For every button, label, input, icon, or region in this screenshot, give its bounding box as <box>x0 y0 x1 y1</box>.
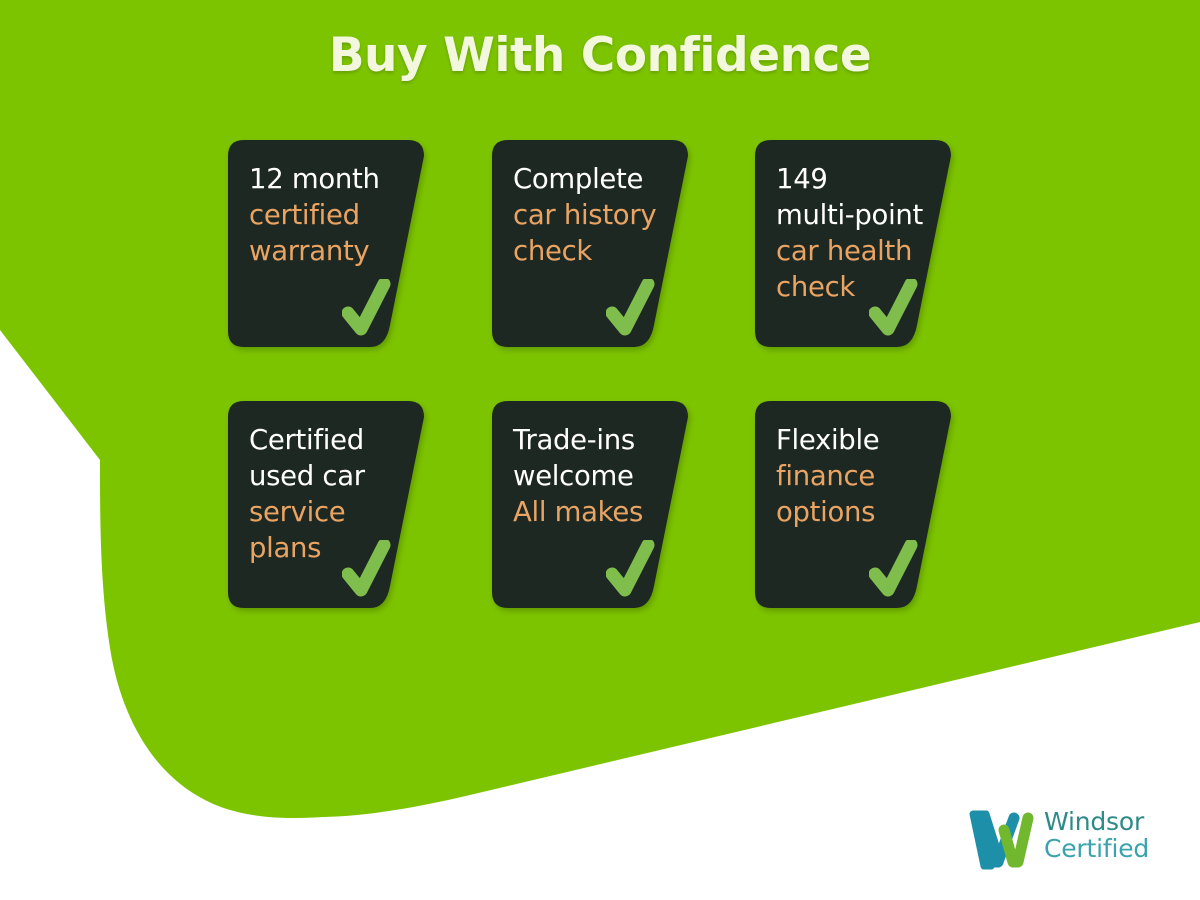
card-line: plans <box>249 530 410 566</box>
card-line: Certified <box>249 422 410 458</box>
card-line: car history <box>513 197 674 233</box>
windsor-certified-logo[interactable]: Windsor Certified <box>968 808 1178 874</box>
card-12-month-certified-warranty[interactable]: 12 monthcertifiedwarranty <box>228 140 424 347</box>
card-149-multi-point-car-health-check[interactable]: 149multi-pointcar healthcheck <box>755 140 951 347</box>
logo-line-certified: Certified <box>1044 835 1149 862</box>
card-line: used car <box>249 458 410 494</box>
card-line: Flexible <box>776 422 937 458</box>
card-text-block: Completecar historycheck <box>513 161 674 269</box>
card-line: service <box>249 494 410 530</box>
logo-line-windsor: Windsor <box>1044 808 1149 835</box>
card-complete-car-history-check[interactable]: Completecar historycheck <box>492 140 688 347</box>
infographic-canvas: Buy With Confidence 12 monthcertifiedwar… <box>0 0 1200 900</box>
card-line: Trade-ins <box>513 422 674 458</box>
card-text-block: Trade-inswelcomeAll makes <box>513 422 674 530</box>
card-trade-ins-welcome-all-makes[interactable]: Trade-inswelcomeAll makes <box>492 401 688 608</box>
card-flexible-finance-options[interactable]: Flexiblefinanceoptions <box>755 401 951 608</box>
card-line: 12 month <box>249 161 410 197</box>
card-line: finance <box>776 458 937 494</box>
card-text-block: Certifiedused carserviceplans <box>249 422 410 566</box>
page-title: Buy With Confidence <box>0 28 1200 83</box>
card-line: options <box>776 494 937 530</box>
card-line: 149 <box>776 161 937 197</box>
card-line: welcome <box>513 458 674 494</box>
card-text-block: Flexiblefinanceoptions <box>776 422 937 530</box>
card-text-block: 149multi-pointcar healthcheck <box>776 161 937 305</box>
card-certified-used-car-service-plans[interactable]: Certifiedused carserviceplans <box>228 401 424 608</box>
card-line: check <box>513 233 674 269</box>
card-line: multi-point <box>776 197 937 233</box>
card-line: All makes <box>513 494 674 530</box>
card-line: check <box>776 269 937 305</box>
card-line: Complete <box>513 161 674 197</box>
card-line: warranty <box>249 233 410 269</box>
card-text-block: 12 monthcertifiedwarranty <box>249 161 410 269</box>
windsor-w-mark-icon <box>968 810 1040 870</box>
logo-wordmark: Windsor Certified <box>1044 808 1149 862</box>
card-line: certified <box>249 197 410 233</box>
card-line: car health <box>776 233 937 269</box>
